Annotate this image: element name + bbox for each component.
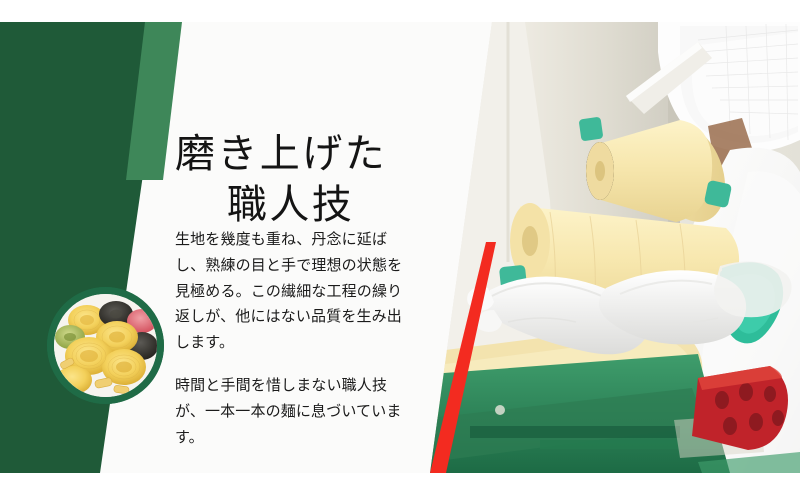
slide-stage: 磨き上げた 職人技 生地を幾度も重ね、丹念に延ばし、熟練の目と手で理想の状態を見… (0, 22, 800, 473)
slide-body-copy: 生地を幾度も重ね、丹念に延ばし、熟練の目と手で理想の状態を見極める。この繊細な工… (175, 227, 407, 450)
title-line-2: 職人技 (175, 180, 465, 231)
factory-photo (430, 22, 800, 473)
body-paragraph-2: 時間と手間を惜しまない職人技が、一本一本の麺に息づいています。 (175, 373, 407, 450)
letterbox-band-top (0, 0, 800, 22)
letterbox-band-bottom (0, 473, 800, 495)
pasta-circle-badge (47, 287, 164, 404)
title-line-1: 磨き上げた (175, 132, 387, 176)
body-paragraph-1: 生地を幾度も重ね、丹念に延ばし、熟練の目と手で理想の状態を見極める。この繊細な工… (175, 227, 407, 356)
pasta-photo (54, 294, 157, 397)
slide-canvas: 磨き上げた 職人技 生地を幾度も重ね、丹念に延ばし、熟練の目と手で理想の状態を見… (0, 0, 800, 495)
